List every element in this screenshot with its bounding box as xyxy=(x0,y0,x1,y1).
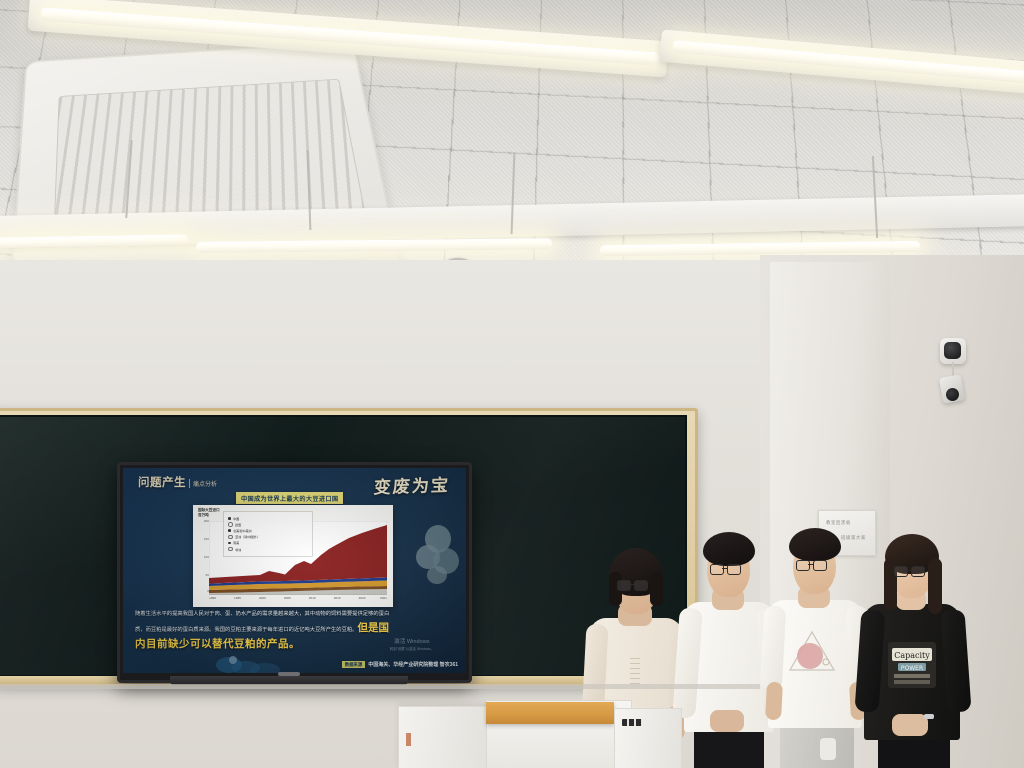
student-4-wristwatch xyxy=(924,714,934,719)
podium-wood-top xyxy=(486,702,614,724)
student-1-shirt-print xyxy=(630,658,640,684)
student-2-pants xyxy=(694,726,764,768)
podium-right-panel xyxy=(614,708,682,768)
presentation-slide: 问题产生 痛点分析 变废为宝 中国成为世界上最大的大豆进口国 国际大豆进口 百万… xyxy=(123,468,466,673)
student-2-hands-clasped xyxy=(710,710,744,732)
floor-line xyxy=(0,684,760,689)
slide-vignette xyxy=(123,468,466,673)
student-2-glasses-icon xyxy=(710,564,750,575)
student-1-glasses-icon xyxy=(617,580,657,591)
student-3-pants xyxy=(780,722,854,768)
podium-label-mark xyxy=(406,733,411,746)
display-screen[interactable]: 问题产生 痛点分析 变废为宝 中国成为世界上最大的大豆进口国 国际大豆进口 百万… xyxy=(117,462,472,683)
student-4: Capacity POWER xyxy=(858,518,968,768)
student-3-shirt-graphic-icon xyxy=(786,626,838,682)
student-3-hand-left xyxy=(765,682,783,721)
display-brand-logo xyxy=(278,672,300,676)
classroom-scene: 教室后黑板 班级第大家 问题产生 痛点分析 变废为宝 中国成为世界上最大的大豆进… xyxy=(0,0,1024,768)
student-3-glasses-icon xyxy=(796,560,836,571)
student-3-arm-left xyxy=(760,605,786,690)
svg-text:Capacity: Capacity xyxy=(894,651,930,660)
student-4-hands-clasped xyxy=(892,714,928,736)
student-3-hair xyxy=(789,528,841,561)
svg-text:POWER: POWER xyxy=(901,665,923,672)
student-3 xyxy=(762,516,870,768)
student-4-shirt-graphic-icon: Capacity POWER xyxy=(884,636,940,694)
student-4-glasses-icon xyxy=(894,566,934,577)
power-socket-icon[interactable] xyxy=(622,719,642,726)
wall-speaker-icon xyxy=(944,342,961,359)
podium-left-panel xyxy=(398,706,492,768)
student-3-pocket-patch xyxy=(820,738,836,760)
student-2-hair xyxy=(703,532,755,566)
